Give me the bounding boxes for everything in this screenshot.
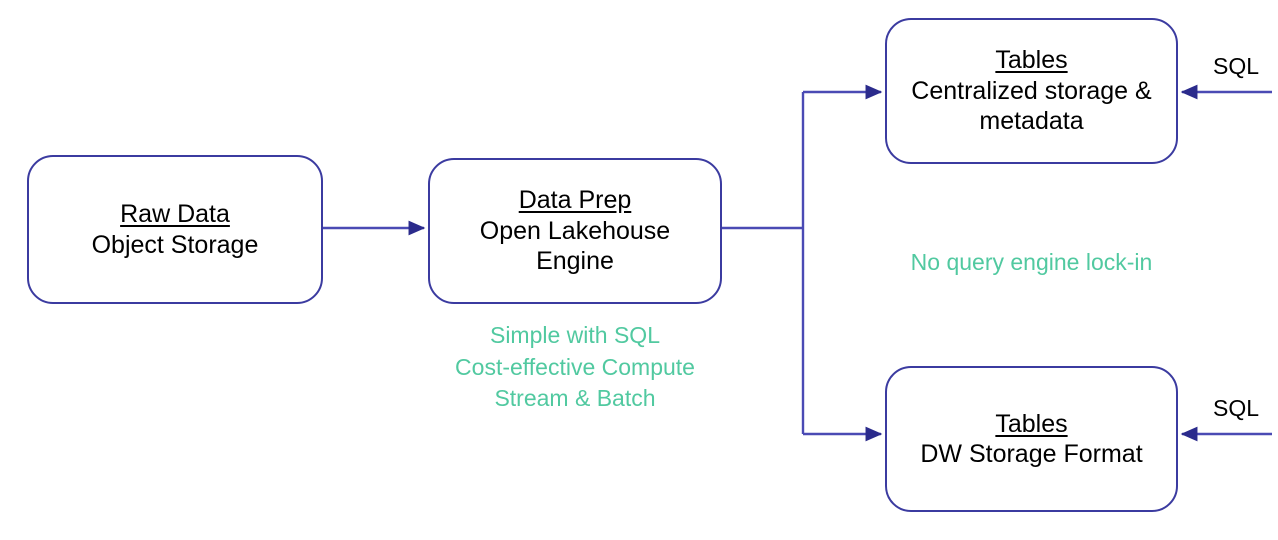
node-tables-centralized-title: Tables	[995, 45, 1067, 76]
node-tables-centralized-subtitle: Centralized storage & metadata	[887, 76, 1176, 137]
node-tables-dw-title: Tables	[995, 409, 1067, 440]
edge-label-sql-top: SQL	[1213, 53, 1259, 80]
node-raw-data-title: Raw Data	[120, 199, 230, 230]
node-raw-data[interactable]: Raw Data Object Storage	[27, 155, 323, 304]
node-tables-dw[interactable]: Tables DW Storage Format	[885, 366, 1178, 512]
node-data-prep-title: Data Prep	[519, 185, 632, 216]
benefit-stream-and-batch: Stream & Batch	[428, 383, 722, 415]
node-data-prep-subtitle: Open Lakehouse Engine	[443, 216, 707, 277]
annotation-no-query-engine-lock-in: No query engine lock-in	[885, 247, 1178, 279]
node-tables-dw-subtitle: DW Storage Format	[908, 439, 1154, 470]
edge-label-sql-bottom: SQL	[1213, 395, 1259, 422]
node-raw-data-subtitle: Object Storage	[80, 230, 271, 261]
benefit-simple-with-sql: Simple with SQL	[428, 320, 722, 352]
node-tables-centralized[interactable]: Tables Centralized storage & metadata	[885, 18, 1178, 164]
diagram-canvas: Raw Data Object Storage Data Prep Open L…	[0, 0, 1278, 540]
benefit-cost-effective-compute: Cost-effective Compute	[428, 352, 722, 384]
node-data-prep[interactable]: Data Prep Open Lakehouse Engine	[428, 158, 722, 304]
annotation-data-prep-benefits: Simple with SQL Cost-effective Compute S…	[428, 320, 722, 415]
